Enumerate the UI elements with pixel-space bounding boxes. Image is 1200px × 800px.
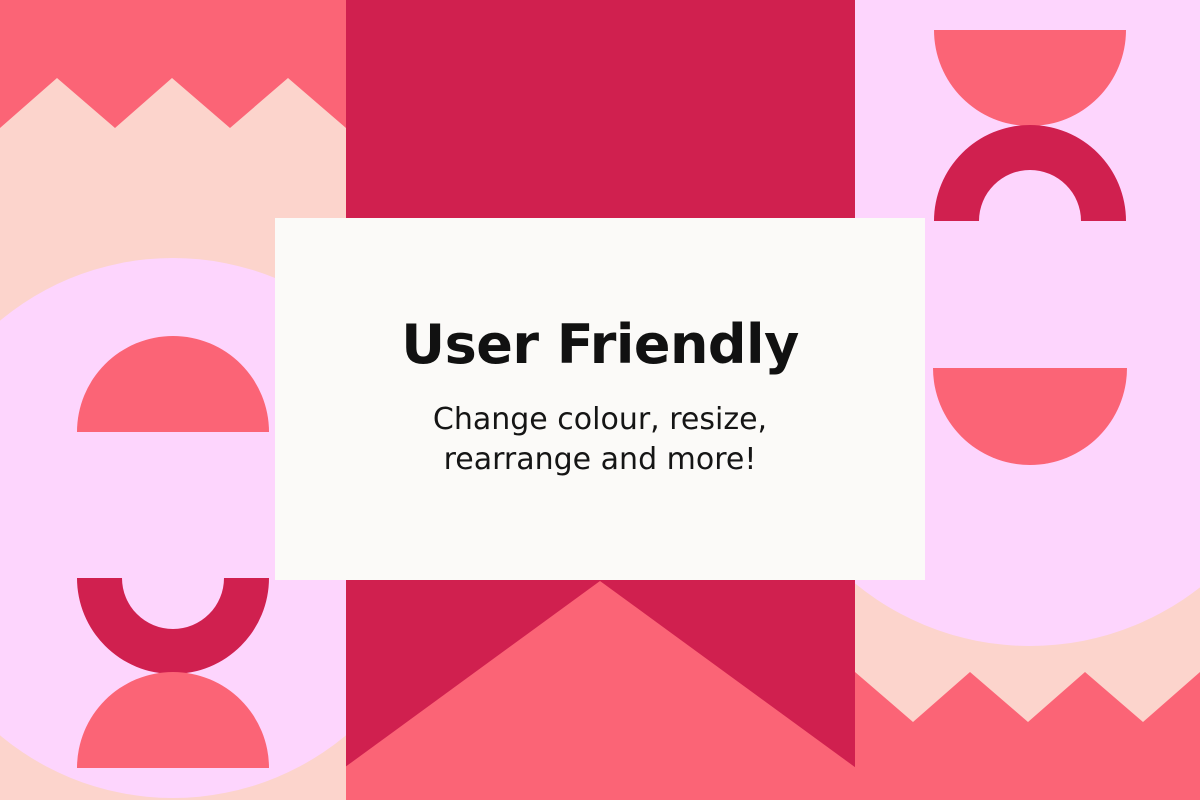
card-subtitle-line-1: Change colour, resize, xyxy=(433,402,767,437)
banner-canvas: User Friendly Change colour, resize, rea… xyxy=(0,0,1200,800)
content-card: User Friendly Change colour, resize, rea… xyxy=(275,218,925,580)
card-title: User Friendly xyxy=(401,317,799,374)
card-subtitle: Change colour, resize, rearrange and mor… xyxy=(433,400,767,480)
card-subtitle-line-2: rearrange and more! xyxy=(444,442,757,477)
